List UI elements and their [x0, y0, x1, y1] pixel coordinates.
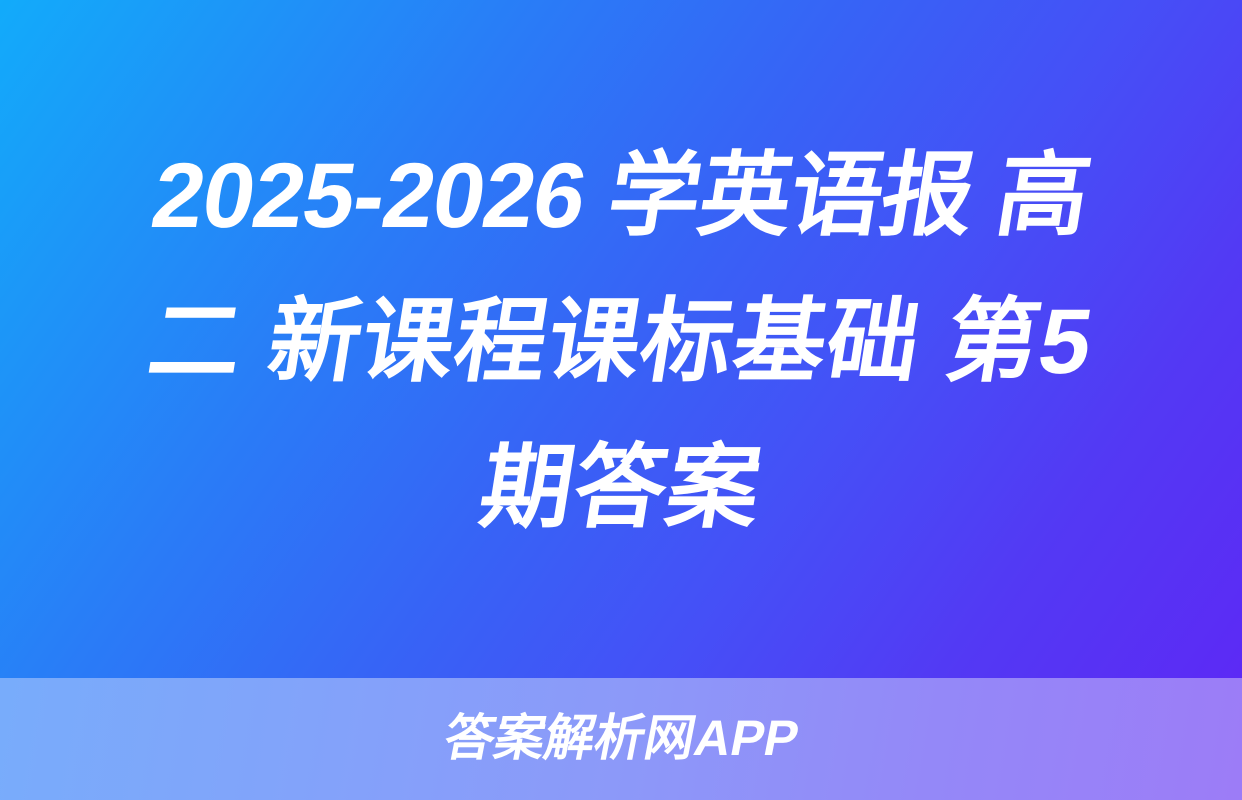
page-title: 2025-2026 学英语报 高 二 新课程课标基础 第5 期答案 — [66, 117, 1176, 561]
title-line-2: 二 新课程课标基础 第5 — [54, 269, 1187, 415]
title-line-3: 期答案 — [54, 415, 1187, 561]
poster-canvas: 2025-2026 学英语报 高 二 新课程课标基础 第5 期答案 答案解析网A… — [0, 0, 1242, 800]
hero-banner: 2025-2026 学英语报 高 二 新课程课标基础 第5 期答案 — [0, 0, 1242, 678]
footer-watermark-bar: 答案解析网APP — [0, 678, 1242, 800]
app-watermark-label: 答案解析网APP — [440, 713, 803, 765]
title-line-1: 2025-2026 学英语报 高 — [54, 123, 1187, 269]
